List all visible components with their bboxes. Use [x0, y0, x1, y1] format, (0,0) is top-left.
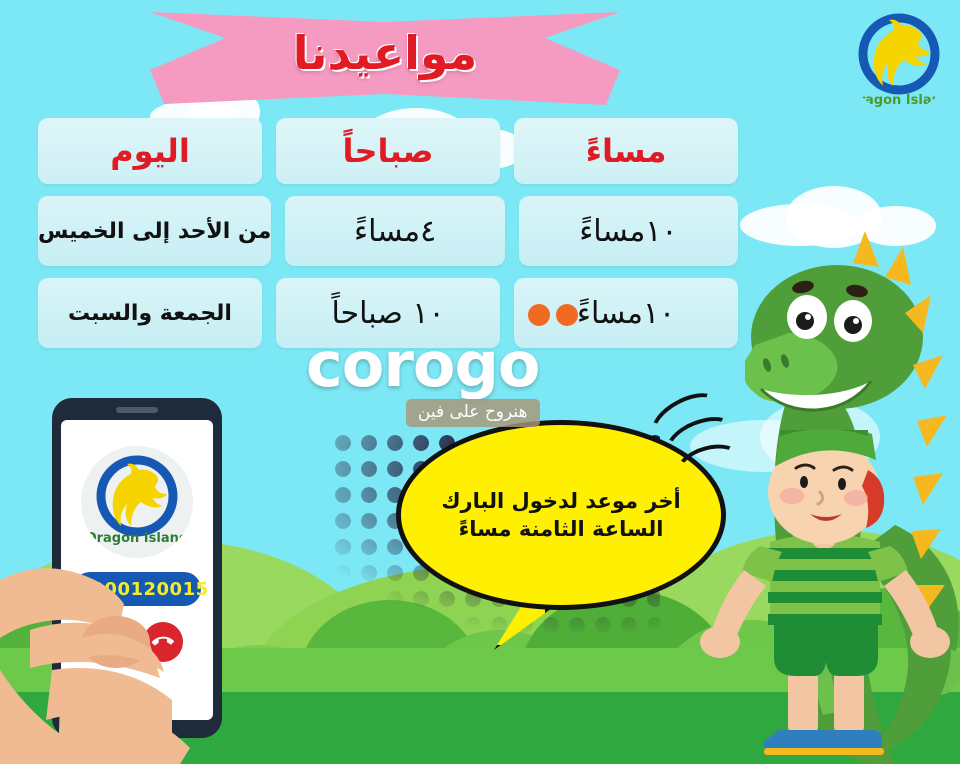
notice-line-2: الساعة الثامنة مساءً: [441, 515, 680, 543]
table-row: من الأحد إلى الخميس ٤مساءً ١٠مساءً: [38, 196, 738, 266]
table-row: الجمعة والسبت ١٠ صباحاً ١٠مساءً: [38, 278, 738, 348]
cell-day-0: من الأحد إلى الخميس: [38, 196, 271, 266]
title-ribbon: مواعيدنا: [150, 8, 620, 108]
boy-character: [700, 430, 950, 764]
cell-morning-0: ٤مساءً: [285, 196, 504, 266]
schedule-header-row: اليوم صباحاً مساءً: [38, 118, 738, 184]
schedule-table: اليوم صباحاً مساءً من الأحد إلى الخميس ٤…: [38, 118, 738, 360]
page-title: مواعيدنا: [150, 26, 620, 80]
phone-speaker: [116, 407, 158, 413]
notice-line-1: أخر موعد لدخول البارك: [441, 487, 680, 515]
cell-evening-1: ١٠مساءً: [514, 278, 738, 348]
cell-evening-0: ١٠مساءً: [519, 196, 738, 266]
cell-day-1: الجمعة والسبت: [38, 278, 262, 348]
column-header-morning: صباحاً: [276, 118, 500, 184]
column-header-day: اليوم: [38, 118, 262, 184]
notice-text: أخر موعد لدخول البارك الساعة الثامنة مسا…: [417, 487, 704, 544]
poster-canvas: أخر موعد لدخول البارك الساعة الثامنة مسا…: [0, 0, 960, 764]
hand-holding-phone: [0, 520, 280, 764]
dragon-island-logo: Dragon Island: [846, 6, 952, 112]
cell-morning-1: ١٠ صباحاً: [276, 278, 500, 348]
column-header-evening: مساءً: [514, 118, 738, 184]
